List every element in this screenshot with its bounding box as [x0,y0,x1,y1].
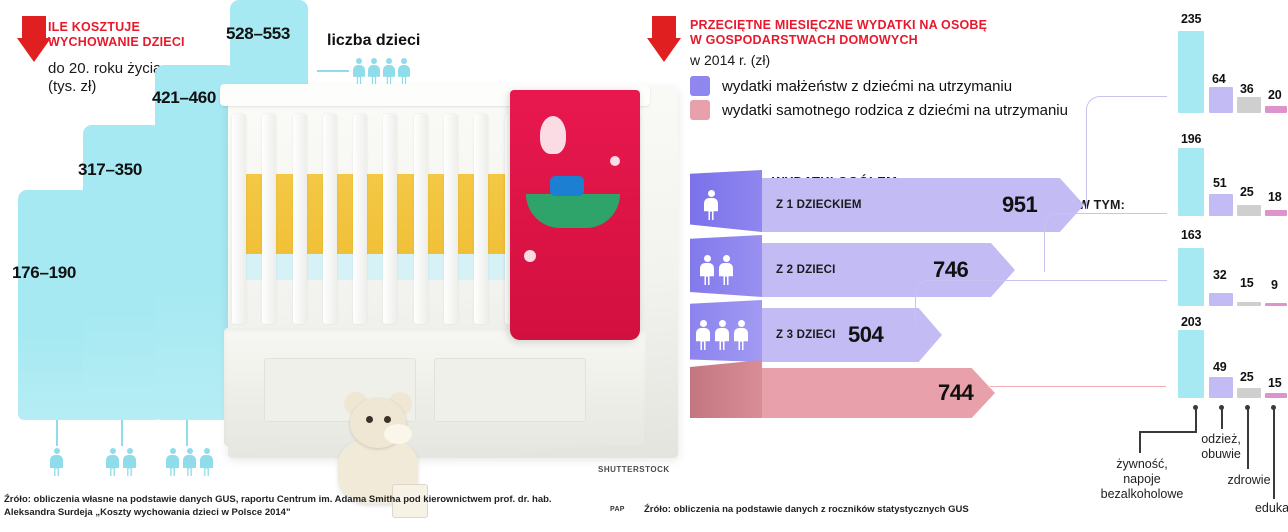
group-1-bar-clothing [1209,87,1233,113]
teddy-eye [366,416,373,423]
group-1-bar-education [1265,106,1287,113]
photo-credit: SHUTTERSTOCK [598,465,670,474]
crib-panel [434,358,586,422]
group-2-value-1: 196 [1181,132,1201,146]
group-2-bar-clothing [1209,194,1233,216]
crib-blanket [510,90,640,340]
group-2-value-4: 18 [1268,190,1282,204]
person-icon [734,320,748,350]
group-2-bar-health [1237,205,1261,216]
group-3-value-3: 15 [1240,276,1254,290]
person-icon [715,320,729,350]
funnel-row-1-icons [704,190,718,220]
breakdown-group-1: 235 64 36 20 [1150,0,1288,113]
breakdown-group-3: 163 32 15 9 [1150,228,1288,306]
callout-line-food-v2 [1139,431,1141,453]
left-bar-2-stem [121,420,123,446]
teddy-snout [384,424,412,444]
crib-slat [414,114,428,324]
blanket-boat-cabin [550,176,584,196]
right-title: PRZECIĘTNE MIESIĘCZNE WYDATKI NA OSOBĘ W… [690,18,1110,48]
crib-slat [444,114,458,324]
left-bar-3-stem [186,420,188,446]
group-4-value-3: 25 [1240,370,1254,384]
blanket-motif [540,116,566,154]
blanket-motif [610,156,620,166]
callout-food-line3: bezalkoholowe [1067,487,1217,502]
connector-row-4 [990,386,1166,388]
blanket-motif [524,250,536,262]
left-source-note: Źróło: obliczenia własne na podstawie da… [4,493,564,520]
funnel-row-2-icons [700,255,733,285]
left-bar-3-label: 421–460 [152,88,216,108]
group-1-value-4: 20 [1268,88,1282,102]
group-2-value-3: 25 [1240,185,1254,199]
child-icon [123,448,136,476]
expenditure-breakdown-groups: 235 64 36 20 196 51 25 18 163 32 [1150,0,1288,415]
funnel-row-3-label: Z 3 DZIECI [776,329,836,341]
funnel-row-3-icons [696,320,748,350]
child-icon [50,448,63,476]
crib-slat [383,114,397,324]
group-4-value-1: 203 [1181,315,1201,329]
group-3-bar-education [1265,303,1287,306]
breakdown-group-2: 196 51 25 18 [1150,128,1288,216]
agency-logo: PAP [610,506,625,513]
crib-photo [210,78,690,468]
left-bar-1-label: 176–190 [12,263,76,283]
funnel-row-single-parent: 744 [690,368,1110,418]
group-1-value-2: 64 [1212,72,1226,86]
category-callouts: żywność, napoje bezalkoholowe odzież, ob… [1055,405,1288,532]
person-icon [704,190,718,220]
right-down-arrow-icon [638,16,690,64]
legend: wydatki małżeństw z dziećmi na utrzymani… [690,76,1068,124]
right-subtitle: w 2014 r. (zł) [690,52,770,69]
group-4-bar-clothing [1209,377,1233,398]
crib-slat [474,114,488,324]
callout-label-clothing: odzież, obuwie [1165,432,1277,462]
group-4-bar-health [1237,388,1261,398]
group-3-value-4: 9 [1271,278,1278,292]
group-3-bar-clothing [1209,293,1233,306]
funnel-row-1-label: Z 1 DZIECKIEM [776,199,862,211]
legend-item-single-parent: wydatki samotnego rodzica z dziećmi na u… [690,100,1068,120]
left-bar-2-label: 317–350 [78,160,142,180]
group-2-value-2: 51 [1213,176,1227,190]
callout-label-education: edukacja [1225,501,1288,516]
legend-item-couples: wydatki małżeństw z dziećmi na utrzymani… [690,76,1068,96]
right-title-line1: PRZECIĘTNE MIESIĘCZNE WYDATKI NA OSOBĘ [690,18,1110,33]
callout-line-food-v1 [1195,407,1197,433]
teddy-bear-toy [330,398,426,508]
group-4-value-4: 15 [1268,376,1282,390]
group-4-bar-food [1178,330,1204,398]
connector-row-3 [915,280,1167,326]
crib-slat [323,114,337,324]
left-bar-4-label: 528–553 [226,24,290,44]
blanket-boat-motif [526,194,620,228]
group-4-bar-education [1265,393,1287,398]
right-source-note: Źróło: obliczenia na podstawie danych z … [644,503,1074,516]
teddy-head [350,398,406,448]
left-bar-1-children-icons [50,448,63,476]
legend-label-couples: wydatki małżeństw z dziećmi na utrzymani… [722,78,1012,95]
funnel-row-2-label: Z 2 DZIECI [776,264,836,276]
children-count-connector [317,70,349,72]
left-source-text: Źróło: obliczenia własne na podstawie da… [4,494,552,518]
child-icon [183,448,196,476]
person-icon [700,255,714,285]
child-icon [106,448,119,476]
children-count-label: liczba dzieci [327,32,420,50]
callout-clothing-line2: obuwie [1165,447,1277,462]
connector-row-2 [1044,213,1167,272]
breakdown-group-4: 203 49 25 15 [1150,310,1288,398]
legend-swatch-pink [690,100,710,120]
group-3-value-2: 32 [1213,268,1227,282]
left-bar-2-children-icons [106,448,136,476]
crib-slat [232,114,246,324]
person-icon [696,320,710,350]
crib-slat [293,114,307,324]
group-3-bar-food [1178,248,1204,306]
group-3-bar-health [1237,302,1261,306]
callout-line-health [1247,407,1249,469]
group-1-value-1: 235 [1181,12,1201,26]
right-source-text: Źróło: obliczenia na podstawie danych z … [644,504,969,515]
right-title-line2: W GOSPODARSTWACH DOMOWYCH [690,33,1110,48]
group-3-value-1: 163 [1181,228,1201,242]
child-icon [166,448,179,476]
group-1-value-3: 36 [1240,82,1254,96]
callout-line-clothing [1221,407,1223,429]
left-bar-3-children-icons [166,448,213,476]
group-4-value-2: 49 [1213,360,1227,374]
legend-swatch-purple [690,76,710,96]
legend-label-single-parent: wydatki samotnego rodzica z dziećmi na u… [722,102,1068,119]
callout-line-education [1273,407,1275,499]
callout-education-line1: edukacja [1225,501,1288,516]
group-2-bar-food [1178,148,1204,216]
funnel-row-1-value: 951 [1002,192,1037,218]
group-2-bar-education [1265,210,1287,216]
person-icon [719,255,733,285]
left-bar-1-stem [56,420,58,446]
group-1-bar-health [1237,97,1261,113]
crib-slat [262,114,276,324]
crib-slat [353,114,367,324]
group-1-bar-food [1178,31,1204,113]
funnel-row-3-value: 504 [848,322,883,348]
teddy-eye [384,416,391,423]
callout-clothing-line1: odzież, [1165,432,1277,447]
funnel-row-4-value: 744 [938,380,973,406]
crib-base-drawer [224,328,646,446]
